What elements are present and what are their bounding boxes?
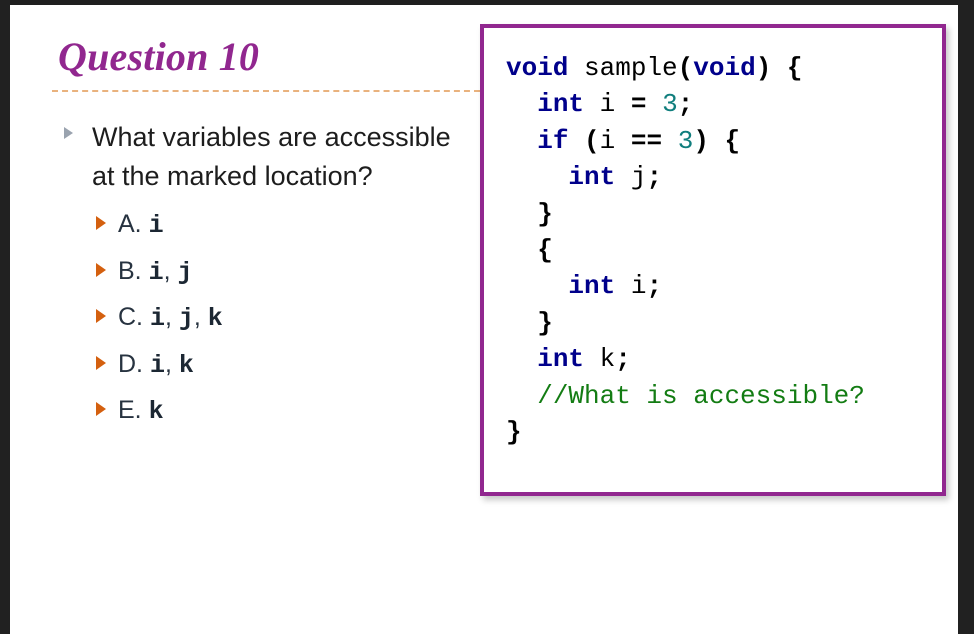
code-token-id — [771, 53, 787, 83]
code-token-cmt: //What is accessible? — [537, 381, 865, 411]
code-token-punc: ; — [646, 162, 662, 192]
code-line: void sample(void) { — [506, 53, 803, 83]
code-token-punc: } — [537, 199, 553, 229]
triangle-bullet-icon — [96, 216, 106, 230]
code-token-kw: int — [537, 89, 584, 119]
option-variable: j — [179, 304, 194, 333]
page-title: Question 10 — [50, 34, 470, 88]
code-token-punc: ) — [756, 53, 772, 83]
code-token-punc: ; — [615, 344, 631, 374]
option-letter: E. — [118, 396, 142, 424]
code-line: int j; — [506, 162, 662, 192]
code-token-kw: int — [568, 271, 615, 301]
code-token-num: 3 — [662, 89, 678, 119]
code-line: int i = 3; — [506, 89, 693, 119]
question-text: What variables are accessible at the mar… — [92, 122, 451, 191]
option-separator: , — [164, 257, 178, 285]
question-bullet-list: What variables are accessible at the mar… — [50, 118, 470, 196]
code-token-punc: == — [631, 126, 662, 156]
triangle-bullet-icon — [96, 356, 106, 370]
code-token-punc: { — [787, 53, 803, 83]
option-variable: i — [149, 258, 164, 287]
option-variable: i — [149, 211, 164, 240]
code-token-id — [506, 344, 537, 374]
code-token-punc: ; — [678, 89, 694, 119]
code-line: int i; — [506, 271, 662, 301]
code-line: { — [506, 235, 553, 265]
code-token-id — [506, 162, 568, 192]
code-token-id — [506, 126, 537, 156]
code-token-punc: } — [506, 417, 522, 447]
code-token-kw: void — [693, 53, 755, 83]
code-token-punc: } — [537, 308, 553, 338]
code-token-id: k — [584, 344, 615, 374]
code-token-id — [506, 89, 537, 119]
code-line: } — [506, 417, 522, 447]
code-token-punc: ) — [693, 126, 709, 156]
answer-option-a[interactable]: A. i — [50, 202, 470, 249]
answer-options-list: A. iB. i, jC. i, j, kD. i, kE. k — [50, 202, 470, 435]
answer-option-e[interactable]: E. k — [50, 388, 470, 435]
window-chrome-right-bar — [958, 0, 974, 634]
code-token-id — [709, 126, 725, 156]
code-token-kw: if — [537, 126, 568, 156]
code-token-id: j — [615, 162, 646, 192]
option-variable: j — [178, 258, 193, 287]
code-line: } — [506, 199, 553, 229]
title-divider-rule — [52, 90, 480, 92]
triangle-bullet-icon — [96, 309, 106, 323]
window-chrome-top-bar — [0, 0, 974, 5]
code-line: if (i == 3) { — [506, 126, 740, 156]
code-token-kw: int — [537, 344, 584, 374]
code-line: } — [506, 308, 553, 338]
code-token-id: i — [584, 89, 631, 119]
code-line: //What is accessible? — [506, 381, 865, 411]
code-token-id — [506, 308, 537, 338]
code-token-id: i — [615, 271, 646, 301]
code-token-punc: ( — [678, 53, 694, 83]
code-token-punc: ( — [584, 126, 600, 156]
code-token-id — [568, 53, 584, 83]
code-token-punc: ; — [646, 271, 662, 301]
triangle-bullet-icon — [96, 263, 106, 277]
window-chrome-left-bar — [0, 0, 10, 634]
option-separator: , — [194, 303, 208, 331]
code-token-num: 3 — [678, 126, 694, 156]
answer-option-c[interactable]: C. i, j, k — [50, 295, 470, 342]
option-separator: , — [165, 350, 179, 378]
code-token-id — [646, 89, 662, 119]
code-token-id: sample — [584, 53, 678, 83]
code-token-id — [568, 126, 584, 156]
slide-left-column: Question 10 What variables are accessibl… — [50, 34, 470, 435]
code-line: int k; — [506, 344, 631, 374]
code-token-kw: void — [506, 53, 568, 83]
question-bullet-item: What variables are accessible at the mar… — [50, 118, 470, 196]
triangle-bullet-icon — [96, 402, 106, 416]
code-sample-box: void sample(void) { int i = 3; if (i == … — [480, 24, 946, 496]
code-token-kw: int — [568, 162, 615, 192]
option-variable: k — [179, 351, 194, 380]
triangle-bullet-icon — [64, 127, 73, 139]
option-letter: A. — [118, 210, 142, 238]
code-token-id — [506, 235, 537, 265]
option-letter: B. — [118, 257, 142, 285]
code-sample-text: void sample(void) { int i = 3; if (i == … — [484, 28, 942, 450]
option-variable: k — [208, 304, 223, 333]
option-variable: i — [150, 304, 165, 333]
option-letter: D. — [118, 350, 143, 378]
code-token-id — [506, 381, 537, 411]
option-variable: i — [150, 351, 165, 380]
option-letter: C. — [118, 303, 143, 331]
answer-option-b[interactable]: B. i, j — [50, 249, 470, 296]
code-token-punc: = — [631, 89, 647, 119]
option-separator: , — [165, 303, 179, 331]
answer-option-d[interactable]: D. i, k — [50, 342, 470, 389]
code-token-punc: { — [725, 126, 741, 156]
option-variable: k — [149, 397, 164, 426]
code-token-id: i — [600, 126, 631, 156]
code-token-id — [662, 126, 678, 156]
code-token-id — [506, 199, 537, 229]
code-token-id — [506, 271, 568, 301]
slide-canvas: Question 10 What variables are accessibl… — [0, 0, 974, 634]
code-token-punc: { — [537, 235, 553, 265]
